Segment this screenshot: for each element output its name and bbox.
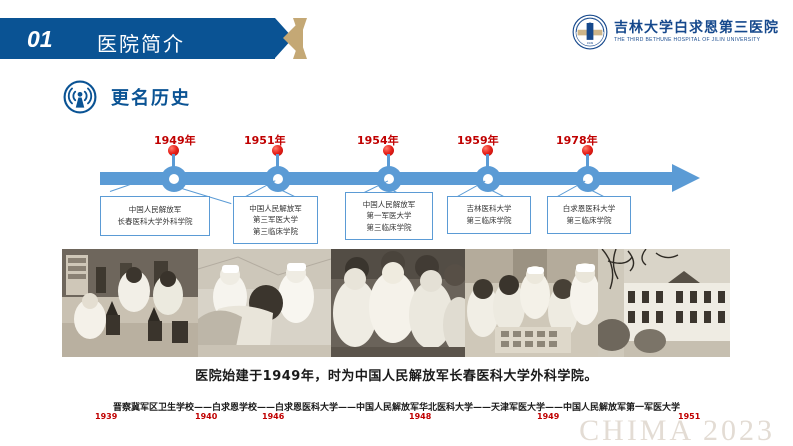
timeline-pin-3 [482,145,493,156]
slide-canvas: 01 医院简介 1949 吉林大学白求恩第三医院 THE THIRD BETHU… [0,0,793,446]
timeline-stem-0 [172,154,175,173]
timeline-pin-1 [272,145,283,156]
timeline-shaft [100,172,675,185]
timeline-pin-2 [383,145,394,156]
callout-2-line-2: 第三临床学院 [367,222,412,234]
chima-watermark: CHIMA 2023 [579,414,775,446]
leader-line-4-left [552,181,586,200]
timeline-stem-1 [276,154,279,173]
leader-line-0-right [172,185,232,204]
section-number: 01 [27,26,53,53]
timeline-node-1[interactable] [265,166,291,192]
bedside-treatment-photo [198,249,331,357]
timeline-callout-4: 白求恩医科大学 第三临床学院 [547,196,631,234]
timeline-stem-4 [586,154,589,173]
timeline-year-0: 1949年 [154,132,196,148]
leader-line-2-left [352,181,388,199]
section-header-banner: 01 医院简介 [0,18,310,59]
callout-2-line-1: 第一军医大学 [367,210,412,222]
surgery-team-photo [331,249,465,357]
hospital-building-photo [598,249,730,357]
callout-0-line-0: 中国人民解放军 [129,204,182,216]
callout-4-line-0: 白求恩医科大学 [563,203,616,215]
timeline-pin-0 [168,145,179,156]
laboratory-microscope-photo [62,249,198,357]
broadcast-tower-icon [63,80,97,114]
historical-photo-strip [62,249,730,357]
slide-caption: 医院始建于1949年，时为中国人民解放军长春医科大学外科学院。 [0,365,793,384]
timeline-year-1: 1951年 [244,132,286,148]
timeline-node-2[interactable] [376,166,402,192]
leader-line-3-left [452,181,486,200]
callout-0-line-1: 长春医科大学外科学院 [118,216,193,228]
leader-line-3-right [486,187,522,206]
logo-text-block: 吉林大学白求恩第三医院 THE THIRD BETHUNE HOSPITAL O… [614,21,779,43]
timeline-year-2: 1954年 [357,132,399,148]
timeline-callout-1: 中国人民解放军 第三军医大学 第三临床学院 [233,196,318,244]
timeline-year-3: 1959年 [457,132,499,148]
timeline-node-0[interactable] [161,166,187,192]
timeline-stem-3 [486,154,489,173]
lineage-year-2: 1946 [262,412,284,421]
timeline-node-4[interactable] [575,166,601,192]
callout-1-line-0: 中国人民解放军 [249,203,302,215]
callout-3-line-1: 第三临床学院 [467,215,512,227]
lineage-year-0: 1939 [95,412,117,421]
timeline-year-4: 1978年 [556,132,598,148]
timeline-callout-0: 中国人民解放军 长春医科大学外科学院 [100,196,210,236]
leader-line-1-left [240,180,276,200]
university-seal-icon: 1949 [572,14,608,50]
timeline-callout-3: 吉林医科大学 第三临床学院 [447,196,531,234]
timeline-node-3[interactable] [475,166,501,192]
logo-name-en: THE THIRD BETHUNE HOSPITAL OF JILIN UNIV… [614,38,779,43]
leader-line-1-right [276,187,313,206]
callout-4-line-1: 第三临床学院 [567,215,612,227]
lineage-year-3: 1948 [409,412,431,421]
svg-text:1949: 1949 [587,41,594,45]
hospital-logo: 1949 吉林大学白求恩第三医院 THE THIRD BETHUNE HOSPI… [572,14,779,50]
logo-name-cn: 吉林大学白求恩第三医院 [614,21,779,36]
timeline-pin-4 [582,145,593,156]
timeline-stem-2 [387,154,390,173]
leader-line-4-right [586,187,622,206]
leader-line-2-right [387,187,425,207]
leader-line-0-left [110,171,170,192]
subsection-heading: 更名历史 [63,80,191,114]
callout-1-line-2: 第三临床学院 [253,226,298,238]
callout-2-line-0: 中国人民解放军 [363,199,416,211]
lineage-year-1: 1940 [195,412,217,421]
lineage-year-4: 1949 [537,412,559,421]
timeline-arrowhead-icon [672,164,700,192]
timeline-callout-2: 中国人民解放军 第一军医大学 第三临床学院 [345,192,433,240]
callout-3-line-0: 吉林医科大学 [467,203,512,215]
callout-1-line-1: 第三军医大学 [253,214,298,226]
subsection-label: 更名历史 [111,84,191,110]
section-title: 医院简介 [97,28,185,57]
specimen-review-photo [465,249,598,357]
